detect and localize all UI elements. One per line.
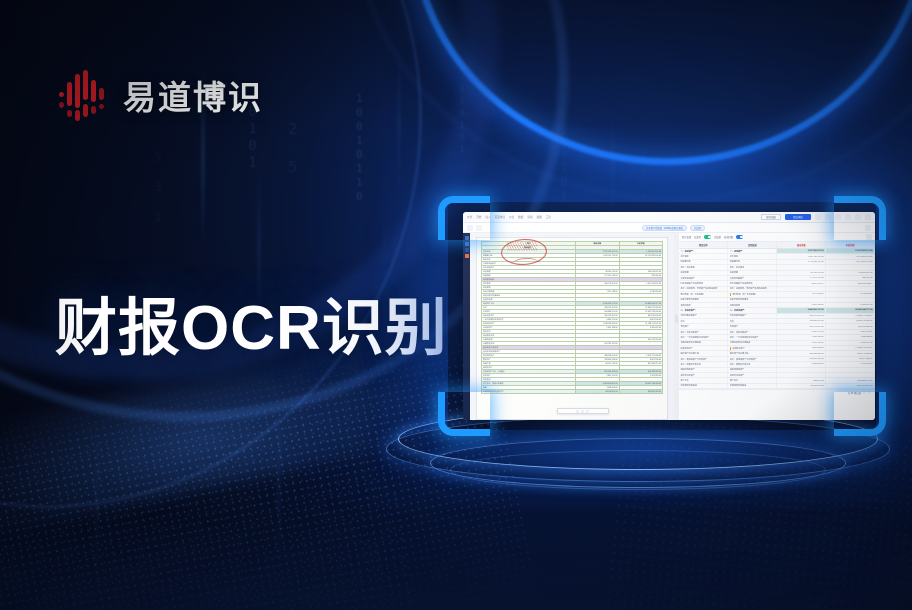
background-vignette bbox=[0, 0, 912, 610]
poster-canvas: 0101 2 5 10010110 110101 01101 1001 5 3 … bbox=[0, 0, 912, 610]
